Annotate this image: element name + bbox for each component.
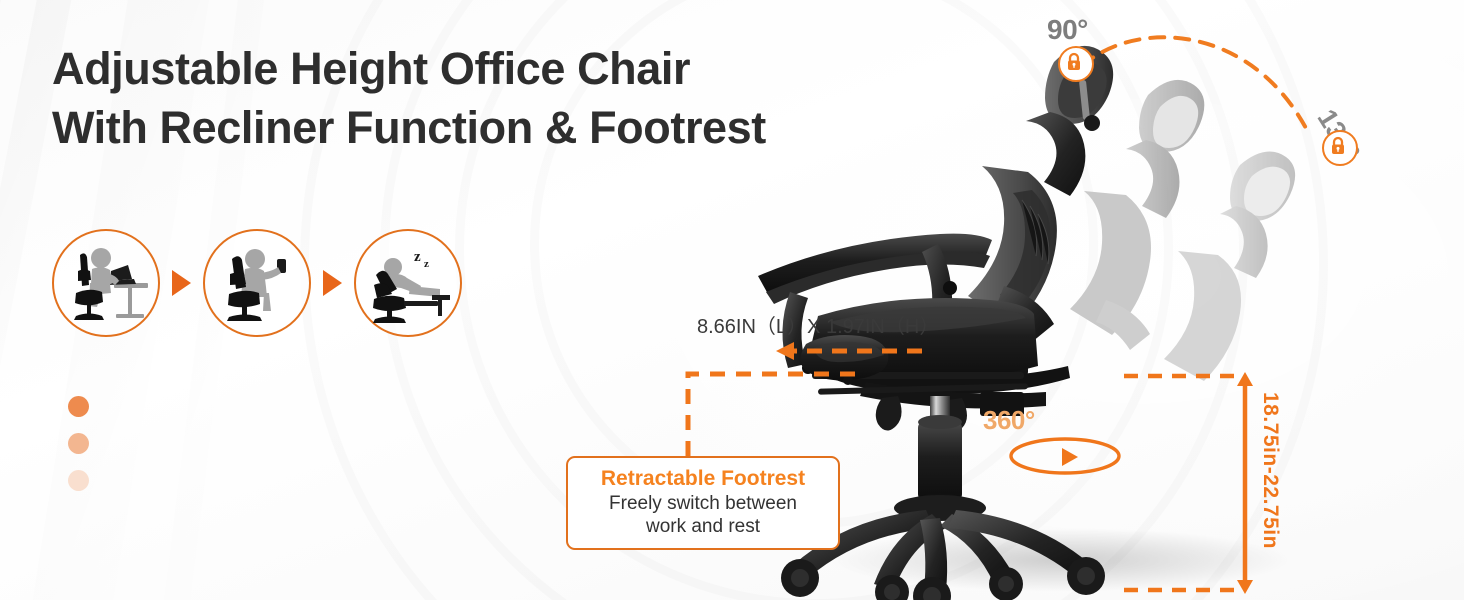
step-icon-sleeping[interactable]: z z <box>354 229 462 337</box>
step-icon-reclining[interactable] <box>203 229 311 337</box>
callout-title: Retractable Footrest <box>578 466 828 491</box>
height-dimension-label: 18.75in-22.75in <box>1258 392 1282 549</box>
dashed-arrow-left-icon <box>770 336 930 366</box>
progress-dot-2 <box>68 433 89 454</box>
callout-line-1: Freely switch between <box>578 493 828 515</box>
progress-dot-3 <box>68 470 89 491</box>
person-sleeping-with-footrest-icon: z z <box>356 231 460 335</box>
svg-text:z: z <box>414 249 421 265</box>
callout-leader-line <box>680 368 860 468</box>
lock-badge-90 <box>1058 46 1094 82</box>
lock-badge-135 <box>1322 130 1358 166</box>
rotation-arrow-icon <box>1000 430 1130 482</box>
progress-dot-1 <box>68 396 89 417</box>
progress-dot-group <box>68 396 89 507</box>
background-streak-1 <box>0 0 17 600</box>
angle-min-label: 90° <box>1047 14 1088 46</box>
dashed-arc-icon <box>1082 37 1308 132</box>
infographic-canvas: Adjustable Height Office Chair With Recl… <box>0 0 1464 600</box>
height-dimension-bracket <box>1120 368 1320 598</box>
callout-retractable-footrest: Retractable Footrest Freely switch betwe… <box>566 456 840 550</box>
svg-text:z: z <box>424 258 429 270</box>
headline-accent: Adjustable Height <box>52 43 428 94</box>
step-arrow-2-icon <box>323 270 342 296</box>
person-working-at-desk-icon <box>54 231 158 335</box>
step-arrow-1-icon <box>172 270 191 296</box>
padlock-icon <box>1060 48 1088 76</box>
person-reclining-with-phone-icon <box>205 231 309 335</box>
step-icon-working[interactable] <box>52 229 160 337</box>
usage-step-sequence: z z <box>52 229 462 337</box>
padlock-icon <box>1324 132 1352 160</box>
footrest-dimension-label: 8.66IN（L）X 1.97IN（H） <box>697 310 939 339</box>
callout-line-2: work and rest <box>578 516 828 538</box>
